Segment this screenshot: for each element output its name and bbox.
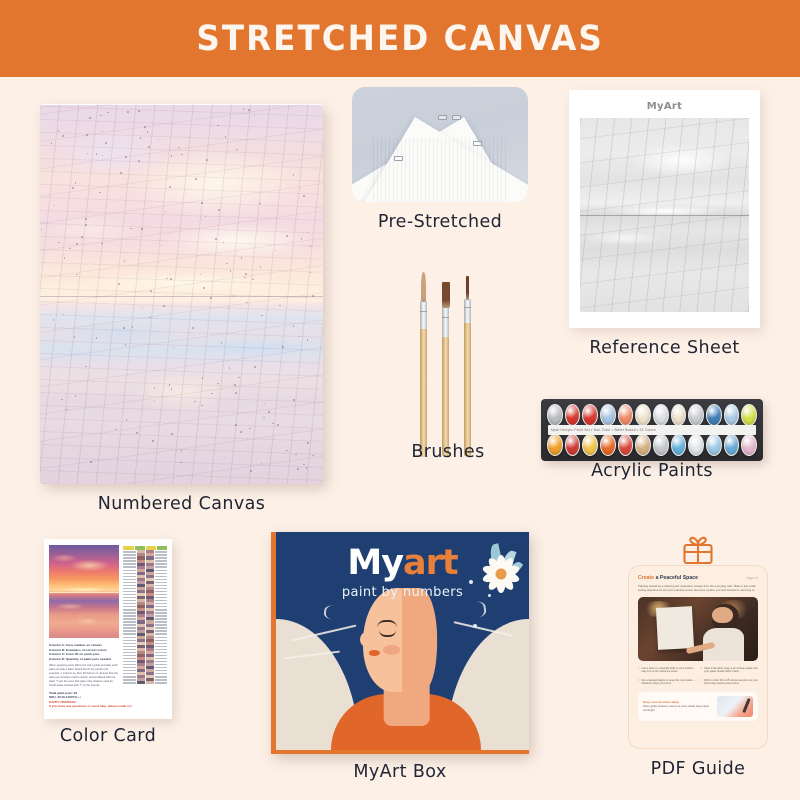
paint-pot[interactable] <box>688 434 704 456</box>
chart-code <box>155 682 167 683</box>
chart-code <box>155 579 167 580</box>
item-numbered-canvas[interactable]: Numbered Canvas <box>40 104 323 484</box>
canvas-number-dot <box>228 308 230 310</box>
item-color-card[interactable]: Column A: Area number on canvasColumn B:… <box>44 539 172 719</box>
brush-group <box>398 242 498 457</box>
canvas-number-dot <box>279 305 281 307</box>
bullet-text: Set a relaxed playlist or keep the room … <box>641 679 695 686</box>
paint-pot[interactable] <box>653 434 669 456</box>
canvas-number-dot <box>96 337 98 339</box>
canvas-number-dot <box>126 419 128 421</box>
canvas-number-dot <box>86 134 88 136</box>
paint-pot[interactable] <box>547 404 563 426</box>
canvas-number-dot <box>252 279 254 281</box>
bullet-number: 4 <box>701 679 702 686</box>
chart-code <box>123 664 135 665</box>
canvas-number-dot <box>170 278 172 280</box>
figure-eyebrow <box>377 620 397 628</box>
brush-handle <box>464 323 471 457</box>
chart-code <box>123 640 135 641</box>
canvas-number-dot <box>169 186 171 188</box>
chart-code <box>123 673 135 674</box>
guide-bullet: 1 Use a lamp or a daylight bulb so your … <box>638 667 696 674</box>
caption-numbered-canvas: Numbered Canvas <box>40 494 323 514</box>
canvas-number-dot <box>205 216 207 218</box>
canvas-number-dot <box>171 388 173 390</box>
canvas-number-dot <box>54 205 56 207</box>
color-card-chart-header <box>123 546 167 550</box>
caption-acrylic-paints: Acrylic Paints <box>541 461 763 481</box>
canvas-number-dot <box>260 266 262 268</box>
canvas-number-dot <box>300 188 302 190</box>
paint-brush <box>420 271 427 457</box>
chart-code <box>155 624 167 625</box>
chart-code <box>155 615 167 616</box>
canvas-number-dot <box>107 112 109 114</box>
caption-reference-sheet: Reference Sheet <box>569 338 760 358</box>
canvas-number-dot <box>293 325 295 327</box>
canvas-number-dot <box>169 384 171 386</box>
color-card-left-column: Column A: Area number on canvasColumn B:… <box>49 545 123 713</box>
canvas-number-dot <box>105 142 107 144</box>
color-card-chart-row <box>123 681 167 684</box>
hair-strand <box>323 605 347 622</box>
canvas-number-dot <box>124 260 126 262</box>
chart-code <box>123 554 135 555</box>
canvas-number-dot <box>307 442 309 444</box>
canvas-number-dot <box>74 336 76 338</box>
logo-art-text: art <box>403 543 458 583</box>
canvas-number-dot <box>181 450 183 452</box>
brush-bristles <box>466 276 469 300</box>
canvas-number-dot <box>312 455 314 457</box>
staple-icon <box>438 115 447 120</box>
canvas-number-dot <box>293 399 295 401</box>
canvas-number-dot <box>96 153 98 155</box>
chart-code <box>155 673 167 674</box>
canvas-number-dot <box>301 238 303 240</box>
chart-code <box>155 551 167 552</box>
hair-strand <box>462 600 487 619</box>
staple-icon <box>473 141 482 146</box>
color-card-instruction-line: Column D: Quantity of paint pots needed <box>49 657 119 662</box>
canvas-number-dot <box>268 411 270 413</box>
guide-tip-text-wrap: Keep your brushes damp Rinse gently betw… <box>643 700 713 712</box>
chart-code <box>155 576 167 577</box>
canvas-number-dot <box>127 111 129 113</box>
canvas-number-dot <box>240 431 242 433</box>
chart-code <box>123 627 135 628</box>
canvas-number-dot <box>299 336 301 338</box>
canvas-number-dot <box>221 342 223 344</box>
chart-code <box>155 679 167 680</box>
bullet-text: Use a lamp or a daylight bulb so your co… <box>641 667 695 674</box>
color-card-body-text: When applying paint, follow the color gu… <box>49 664 119 687</box>
brush-bristles <box>421 272 426 302</box>
guide-heading-accent: Create <box>638 575 654 581</box>
canvas-number-dot <box>64 257 66 259</box>
canvas-number-dot <box>192 327 194 329</box>
chart-code <box>123 606 135 607</box>
chart-code <box>155 588 167 589</box>
paint-pot[interactable] <box>582 404 598 426</box>
chart-code <box>123 621 135 622</box>
guide-bullet: 4 Work in short 30 to 45 minute sessions… <box>701 679 759 686</box>
page-title: Stretched Canvas <box>196 19 604 59</box>
chart-code <box>123 652 135 653</box>
canvas-number-dot <box>225 136 227 138</box>
canvas-number-dot <box>148 146 150 148</box>
myart-logo-reference-sheet: MyArt <box>647 101 682 112</box>
item-acrylic-paints[interactable]: MyArt Acrylic Paint Set • Non-Toxic • Wa… <box>541 399 763 461</box>
item-myart-box[interactable]: Myart paint by numbers MyArt Box <box>271 532 529 754</box>
chart-code <box>123 563 135 564</box>
box-tagline: paint by numbers <box>276 585 529 600</box>
paint-tray-label: MyArt Acrylic Paint Set • Non-Toxic • Wa… <box>548 425 756 435</box>
canvas-number-dot <box>243 108 245 110</box>
myart-logo: Myart paint by numbers <box>276 543 529 600</box>
canvas-number-dot <box>264 403 266 405</box>
item-brushes[interactable]: Brushes <box>398 242 498 457</box>
canvas-number-dot <box>147 131 149 133</box>
canvas-number-dot <box>161 245 163 247</box>
canvas-number-dot <box>76 243 78 245</box>
canvas-number-dot <box>173 347 175 349</box>
chart-code <box>123 655 135 656</box>
canvas-number-dot <box>90 461 92 463</box>
canvas-number-dot <box>312 295 314 297</box>
canvas-number-dot <box>41 229 43 231</box>
canvas-number-dot <box>154 387 156 389</box>
canvas-number-dot <box>136 432 138 434</box>
canvas-number-dot <box>211 393 213 395</box>
chart-code <box>123 579 135 580</box>
bubble-dot <box>473 624 477 628</box>
canvas-number-dot <box>248 109 250 111</box>
chart-swatch <box>146 681 154 684</box>
figure-eye <box>379 630 396 637</box>
paint-pot[interactable] <box>653 404 669 426</box>
chart-code <box>155 606 167 607</box>
canvas-number-dot <box>233 295 235 297</box>
canvas-number-dot <box>249 428 251 430</box>
canvas-number-dot <box>303 195 305 197</box>
canvas-number-dot <box>125 156 127 158</box>
canvas-number-dot <box>85 224 87 226</box>
chart-code <box>155 585 167 586</box>
canvas-number-dot <box>203 287 205 289</box>
chart-code <box>123 594 135 595</box>
numbered-canvas-artwork <box>40 104 323 484</box>
caption-brushes: Brushes <box>398 442 498 462</box>
canvas-number-dot <box>277 424 279 426</box>
canvas-number-dot <box>310 245 312 247</box>
chart-code <box>155 661 167 662</box>
canvas-number-dot <box>102 131 104 133</box>
chart-code <box>155 591 167 592</box>
canvas-number-dot <box>305 297 307 299</box>
canvas-number-dot <box>215 238 217 240</box>
guide-bullet-column-right: 2 Clear a flat table, keep a jar of clea… <box>701 667 759 686</box>
chart-code <box>155 667 167 668</box>
paint-pot[interactable] <box>671 404 687 426</box>
canvas-number-dot <box>120 172 122 174</box>
paint-pot[interactable] <box>547 434 563 456</box>
product-contents-grid: Numbered Canvas Pre-Stretched MyArt Refe… <box>0 77 800 800</box>
chart-code <box>123 566 135 567</box>
canvas-number-dot <box>149 317 151 319</box>
chart-code <box>123 676 135 677</box>
chart-code <box>155 630 167 631</box>
chart-swatch <box>137 681 145 684</box>
guide-tip-title: Keep your brushes damp <box>643 700 713 704</box>
chart-code <box>155 597 167 598</box>
canvas-number-dot <box>217 125 219 127</box>
canvas-number-dot <box>245 273 247 275</box>
chart-code <box>123 588 135 589</box>
chart-code <box>155 600 167 601</box>
chart-code <box>123 576 135 577</box>
item-pre-stretched[interactable]: Pre-Stretched <box>352 87 528 202</box>
canvas-number-dot <box>100 115 102 117</box>
chart-code <box>123 570 135 571</box>
canvas-number-dot <box>89 117 91 119</box>
paint-pot[interactable] <box>618 434 634 456</box>
brush-bristles <box>442 282 450 308</box>
chart-code <box>155 603 167 604</box>
color-card-paper: Column A: Area number on canvasColumn B:… <box>44 539 172 719</box>
chart-code <box>123 603 135 604</box>
canvas-number-dot <box>272 423 274 425</box>
color-card-preview-image <box>49 545 119 638</box>
canvas-number-dot <box>154 400 156 402</box>
chart-code <box>155 664 167 665</box>
caption-pre-stretched: Pre-Stretched <box>352 212 528 232</box>
canvas-number-dot <box>217 383 219 385</box>
canvas-number-dot <box>53 319 55 321</box>
pdf-guide-page: Create a Peaceful Space Page 07 Painting… <box>628 565 768 749</box>
chart-code <box>155 652 167 653</box>
bullet-text: Work in short 30 to 45 minute sessions s… <box>704 679 758 686</box>
chart-code <box>123 597 135 598</box>
guide-bullet-column-left: 1 Use a lamp or a daylight bulb so your … <box>638 667 696 686</box>
easel-canvas <box>656 606 694 650</box>
canvas-number-dot <box>234 384 236 386</box>
chart-code <box>155 609 167 610</box>
chart-code <box>155 563 167 564</box>
chart-code <box>123 612 135 613</box>
staple-icon <box>394 156 403 161</box>
chart-code <box>155 594 167 595</box>
paint-pot[interactable] <box>582 434 598 456</box>
chart-code <box>123 658 135 659</box>
paint-pot[interactable] <box>741 434 757 456</box>
canvas-number-dot <box>125 344 127 346</box>
chart-code <box>155 582 167 583</box>
canvas-number-dot <box>297 468 299 470</box>
canvas-number-dot <box>132 326 134 328</box>
header-banner: Stretched Canvas <box>0 0 800 77</box>
person-head <box>712 607 732 624</box>
chart-code <box>155 573 167 574</box>
canvas-number-dot <box>275 250 277 252</box>
brush-handle <box>442 337 449 457</box>
figure-cheek <box>383 645 400 655</box>
reference-sheet-paper: MyArt <box>569 90 760 328</box>
paint-pot[interactable] <box>600 404 616 426</box>
canvas-number-dot <box>76 274 78 276</box>
chart-code <box>123 585 135 586</box>
canvas-number-dot <box>81 236 83 238</box>
chart-code <box>155 637 167 638</box>
paint-pot[interactable] <box>706 404 722 426</box>
guide-heading-rest: a Peaceful Space <box>654 575 698 581</box>
canvas-number-dot <box>158 139 160 141</box>
canvas-number-dot <box>51 142 53 144</box>
canvas-number-dot <box>246 302 248 304</box>
guide-bullet-list: 1 Use a lamp or a daylight bulb so your … <box>638 667 758 686</box>
canvas-number-dot <box>218 209 220 211</box>
canvas-number-dot <box>87 153 89 155</box>
chart-code <box>155 570 167 571</box>
caption-color-card: Color Card <box>44 726 172 746</box>
canvas-number-dot <box>307 339 309 341</box>
chart-code <box>123 600 135 601</box>
canvas-number-dot <box>142 307 144 309</box>
paint-pot[interactable] <box>671 434 687 456</box>
chart-code <box>155 646 167 647</box>
canvas-number-dot <box>229 367 231 369</box>
canvas-number-dot <box>195 178 197 180</box>
color-card-instruction-list: Column A: Area number on canvasColumn B:… <box>49 643 119 661</box>
canvas-number-dot <box>130 228 132 230</box>
chart-code <box>123 670 135 671</box>
canvas-number-dot <box>165 211 167 213</box>
bullet-number: 1 <box>638 667 639 674</box>
canvas-number-dot <box>181 154 183 156</box>
bullet-number: 2 <box>701 667 702 674</box>
chart-code <box>155 649 167 650</box>
chart-code <box>155 640 167 641</box>
chart-code <box>123 637 135 638</box>
brush-handle <box>420 329 427 457</box>
color-card-chart <box>123 545 167 713</box>
canvas-number-dot <box>306 467 308 469</box>
guide-bullet: 2 Clear a flat table, keep a jar of clea… <box>701 667 759 674</box>
canvas-number-dot <box>259 203 261 205</box>
paint-pot[interactable] <box>565 434 581 456</box>
canvas-number-dot <box>286 235 288 237</box>
guide-tip-box: Keep your brushes damp Rinse gently betw… <box>638 692 758 721</box>
item-pdf-guide[interactable]: Create a Peaceful Space Page 07 Painting… <box>628 537 768 749</box>
canvas-number-dot <box>150 290 152 292</box>
canvas-number-dot <box>201 202 203 204</box>
chart-code <box>155 670 167 671</box>
paint-pot[interactable] <box>635 404 651 426</box>
paint-pot[interactable] <box>618 404 634 426</box>
myart-box-front: Myart paint by numbers <box>271 532 529 754</box>
canvas-number-dot <box>118 283 120 285</box>
logo-my-text: My <box>347 543 403 583</box>
paint-pot[interactable] <box>600 434 616 456</box>
canvas-number-dot <box>235 392 237 394</box>
color-card-footer-line: If you have any questions or need help, … <box>49 704 119 708</box>
canvas-number-dot <box>310 272 312 274</box>
canvas-number-dot <box>85 366 87 368</box>
chart-code <box>155 557 167 558</box>
brush-ferrule <box>420 301 427 329</box>
reference-sheet-artwork <box>580 118 749 312</box>
canvas-number-dot <box>178 147 180 149</box>
canvas-number-dot <box>236 149 238 151</box>
paint-brush <box>442 281 449 457</box>
canvas-number-dot <box>194 401 196 403</box>
chart-code <box>155 627 167 628</box>
chart-code <box>123 682 135 683</box>
paint-brush <box>464 275 471 457</box>
pre-stretched-photo <box>352 87 528 202</box>
chart-code <box>123 630 135 631</box>
paint-pot[interactable] <box>635 434 651 456</box>
chart-code <box>123 615 135 616</box>
chart-code <box>155 658 167 659</box>
canvas-number-dot <box>241 257 243 259</box>
paint-pot[interactable] <box>724 404 740 426</box>
canvas-number-dot <box>85 218 87 220</box>
canvas-number-dot <box>123 327 125 329</box>
face-shadow <box>403 588 437 692</box>
paint-pot[interactable] <box>741 404 757 426</box>
canvas-number-dot <box>69 248 71 250</box>
chart-code <box>123 679 135 680</box>
canvas-number-dot <box>293 174 295 176</box>
canvas-horizon-line <box>40 296 323 298</box>
chart-code <box>123 591 135 592</box>
caption-myart-box: MyArt Box <box>271 762 529 782</box>
paint-pot[interactable] <box>706 434 722 456</box>
canvas-number-dot <box>230 270 232 272</box>
canvas-number-dot <box>261 463 263 465</box>
bullet-number: 3 <box>638 679 639 686</box>
canvas-number-dot <box>295 454 297 456</box>
canvas-number-dot <box>307 232 309 234</box>
canvas-number-dot <box>180 462 182 464</box>
canvas-number-dot <box>138 160 140 162</box>
canvas-number-dot <box>58 242 60 244</box>
chart-code <box>155 618 167 619</box>
canvas-number-dot <box>202 377 204 379</box>
paint-pot[interactable] <box>688 404 704 426</box>
figure-face <box>363 588 437 692</box>
paint-pot[interactable] <box>565 404 581 426</box>
canvas-number-dot <box>72 187 74 189</box>
reference-horizon-line <box>580 215 749 216</box>
canvas-number-dots <box>40 104 323 484</box>
canvas-number-dot <box>141 228 143 230</box>
canvas-number-dot <box>138 110 140 112</box>
chart-code <box>123 667 135 668</box>
guide-header: Create a Peaceful Space Page 07 <box>638 575 758 581</box>
chart-code <box>155 643 167 644</box>
canvas-number-dot <box>235 424 237 426</box>
paint-pot[interactable] <box>724 434 740 456</box>
canvas-number-dot <box>261 315 263 317</box>
canvas-number-dot <box>140 137 142 139</box>
chart-code <box>123 649 135 650</box>
canvas-number-dot <box>66 409 68 411</box>
item-reference-sheet[interactable]: MyArt Reference Sheet <box>569 90 760 328</box>
chart-code <box>123 643 135 644</box>
